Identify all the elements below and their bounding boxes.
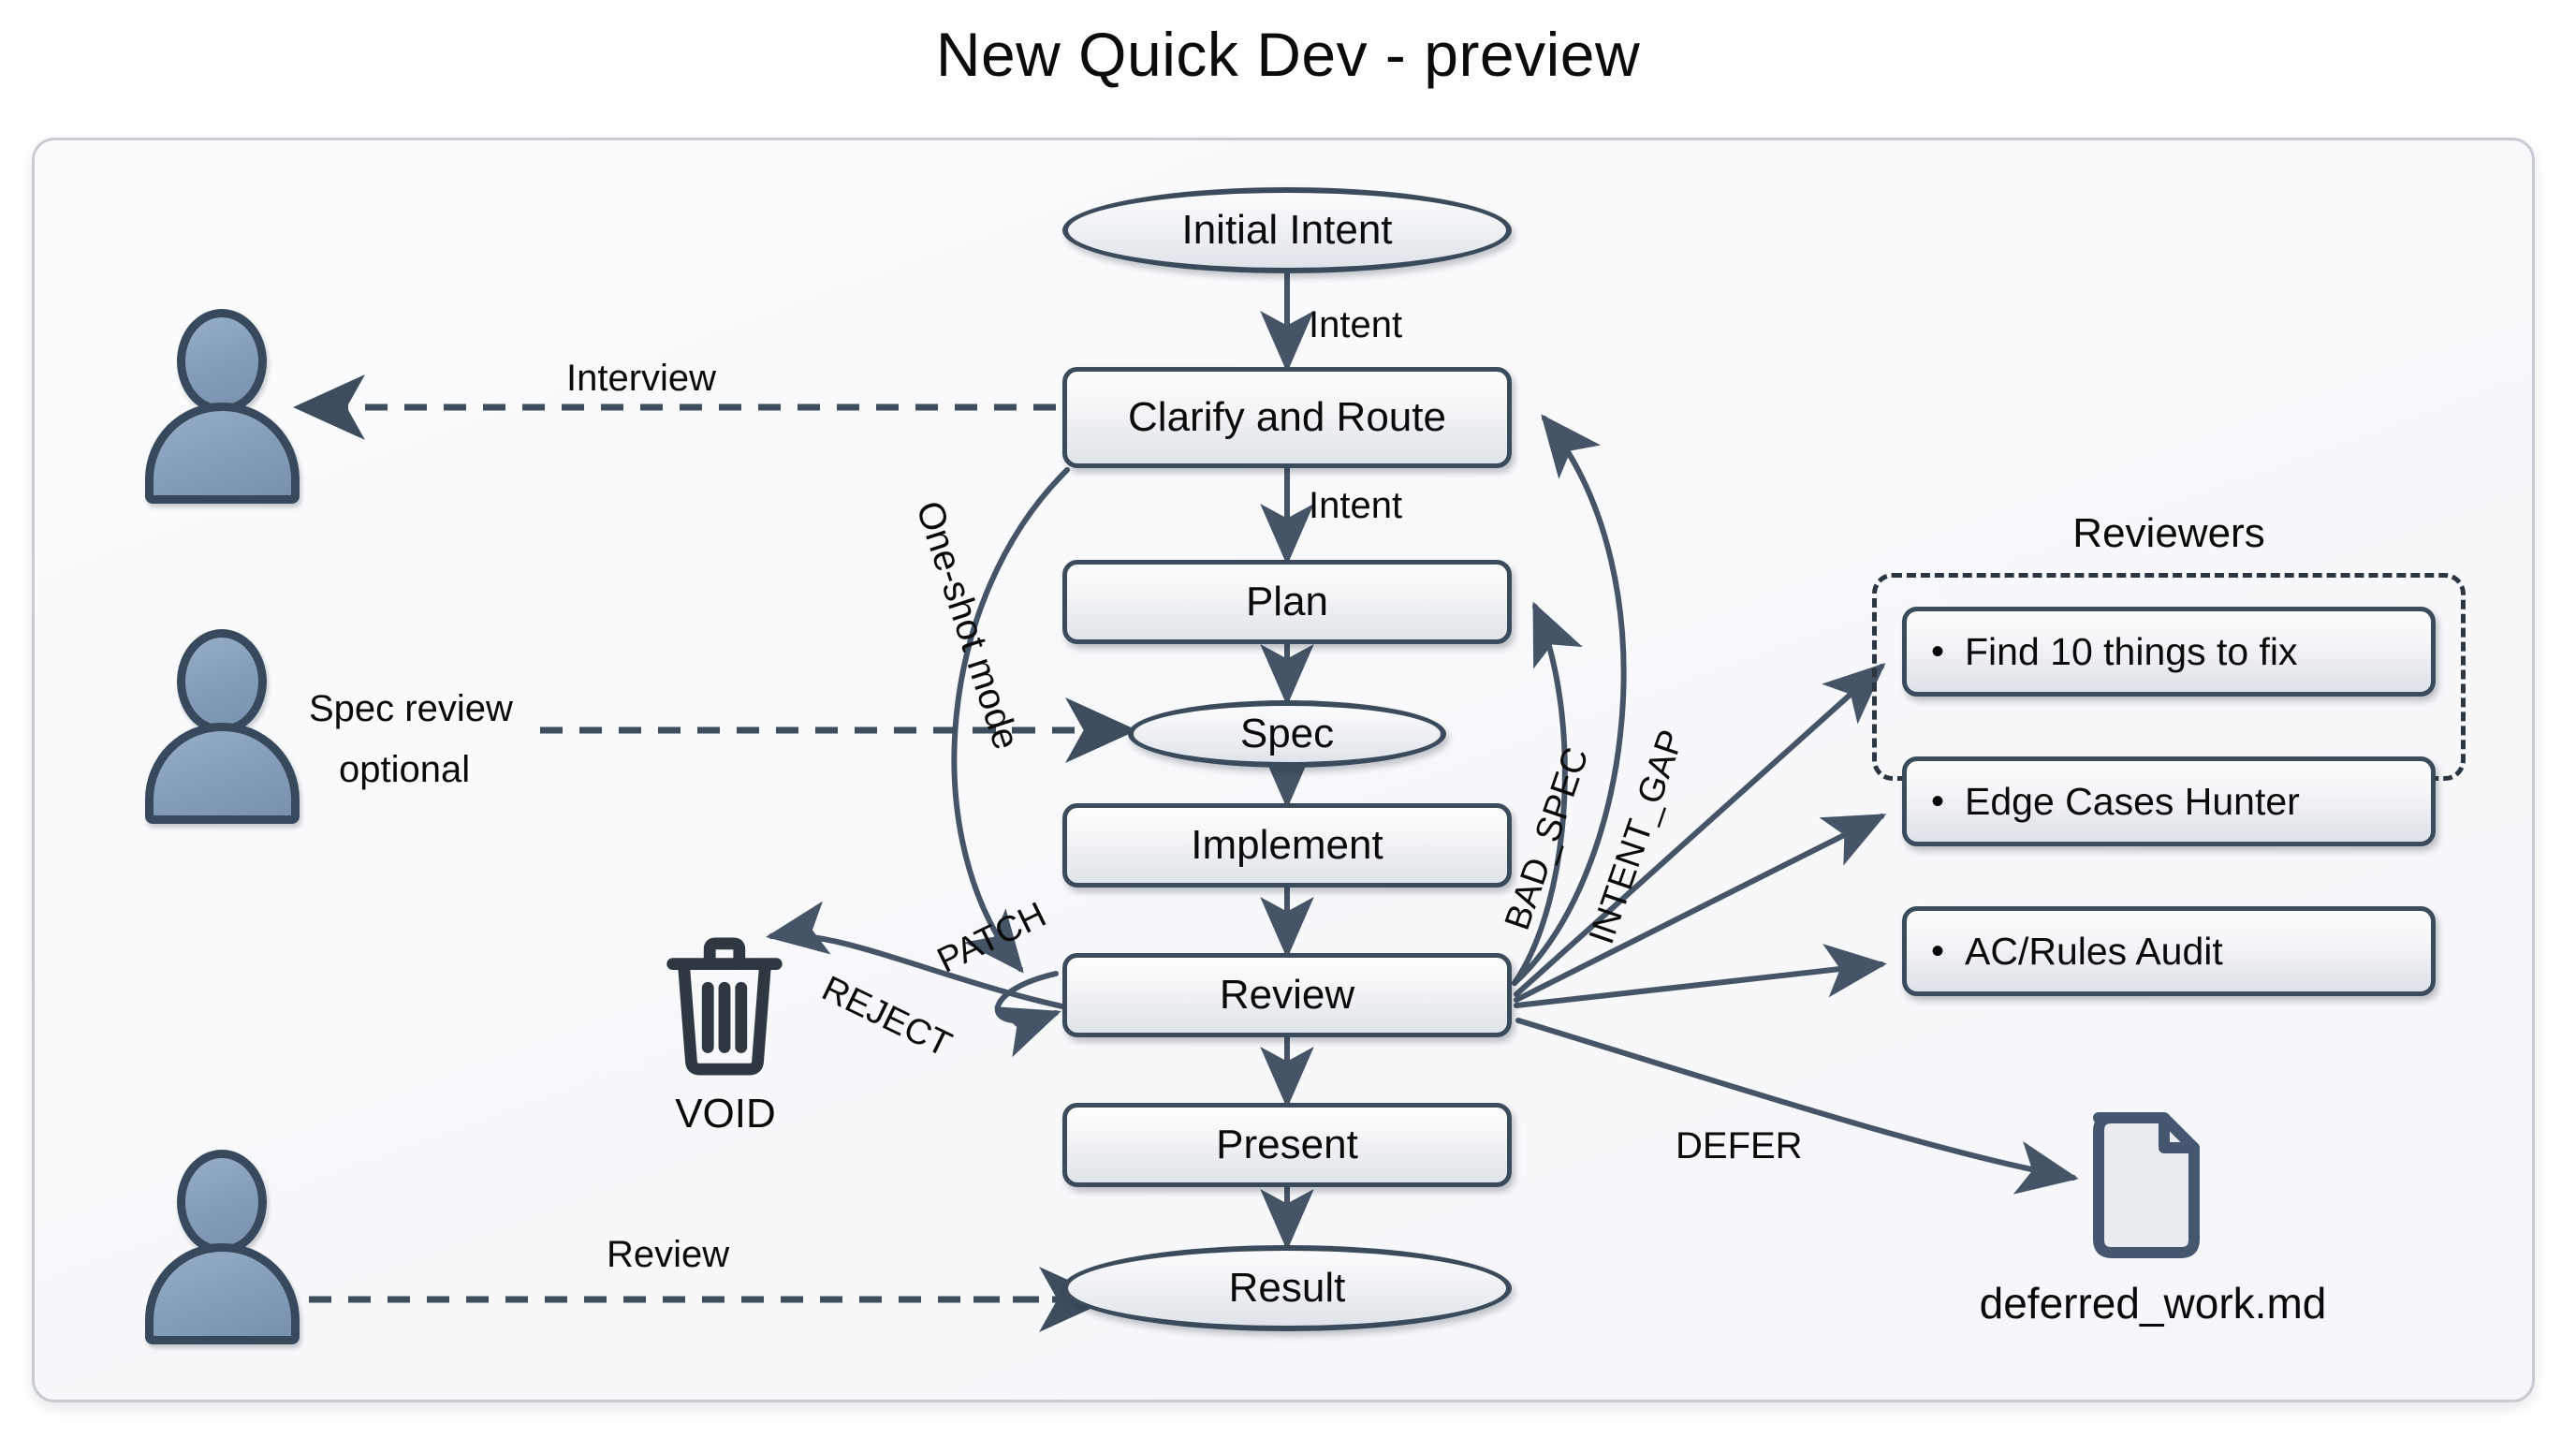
actor-body-icon <box>145 403 300 504</box>
edge-label-review-actor: Review <box>607 1234 729 1276</box>
reviewer-label-2: Edge Cases Hunter <box>1965 780 2300 824</box>
actor-head-icon <box>177 309 267 414</box>
node-initial-intent-label: Initial Intent <box>1181 207 1392 254</box>
node-present[interactable]: Present <box>1062 1103 1512 1187</box>
node-result-label: Result <box>1229 1265 1346 1312</box>
node-clarify-and-route-label: Clarify and Route <box>1128 394 1446 441</box>
reviewer-item-edge-cases-hunter[interactable]: • Edge Cases Hunter <box>1902 756 2436 846</box>
edge-label-intent-2: Intent <box>1309 485 1402 527</box>
actor-body-icon <box>145 1243 300 1344</box>
node-review[interactable]: Review <box>1062 953 1512 1037</box>
edge-label-spec-review-line2: optional <box>339 749 470 791</box>
reviewers-group-title: Reviewers <box>1872 510 2466 557</box>
reviewer-label-3: AC/Rules Audit <box>1965 930 2223 974</box>
edge-label-interview: Interview <box>566 358 716 400</box>
node-initial-intent[interactable]: Initial Intent <box>1062 187 1512 273</box>
node-implement-label: Implement <box>1191 822 1383 869</box>
actor-middle[interactable] <box>145 629 300 816</box>
node-implement[interactable]: Implement <box>1062 803 1512 888</box>
node-spec[interactable]: Spec <box>1128 700 1446 768</box>
reviewer-item-find-10-things-to-fix[interactable]: • Find 10 things to fix <box>1902 607 2436 697</box>
actor-head-icon <box>177 629 267 734</box>
trash-icon <box>665 936 784 1077</box>
actor-top[interactable] <box>145 309 300 496</box>
bullet-icon: • <box>1931 633 1944 670</box>
node-present-label: Present <box>1216 1122 1358 1168</box>
node-clarify-and-route[interactable]: Clarify and Route <box>1062 367 1512 468</box>
edge-label-spec-review-line1: Spec review <box>309 688 513 730</box>
diagram-canvas: New Quick Dev - preview <box>0 0 2576 1438</box>
edge-label-intent-1: Intent <box>1309 304 1402 346</box>
node-plan[interactable]: Plan <box>1062 560 1512 644</box>
actor-bottom[interactable] <box>145 1150 300 1337</box>
node-plan-label: Plan <box>1246 579 1328 625</box>
void-label: VOID <box>618 1091 833 1137</box>
reviewer-item-ac-rules-audit[interactable]: • AC/Rules Audit <box>1902 906 2436 996</box>
bullet-icon: • <box>1931 932 1944 970</box>
page-title: New Quick Dev - preview <box>0 19 2576 90</box>
document-icon <box>2087 1112 2203 1258</box>
node-review-label: Review <box>1220 972 1354 1019</box>
edge-label-defer: DEFER <box>1676 1125 1803 1167</box>
actor-head-icon <box>177 1150 267 1255</box>
node-result[interactable]: Result <box>1062 1245 1512 1331</box>
actor-body-icon <box>145 723 300 824</box>
bullet-icon: • <box>1931 783 1944 820</box>
reviewer-label-1: Find 10 things to fix <box>1965 630 2298 674</box>
deferred-file-label: deferred_work.md <box>1891 1278 2415 1328</box>
node-spec-label: Spec <box>1240 711 1334 757</box>
